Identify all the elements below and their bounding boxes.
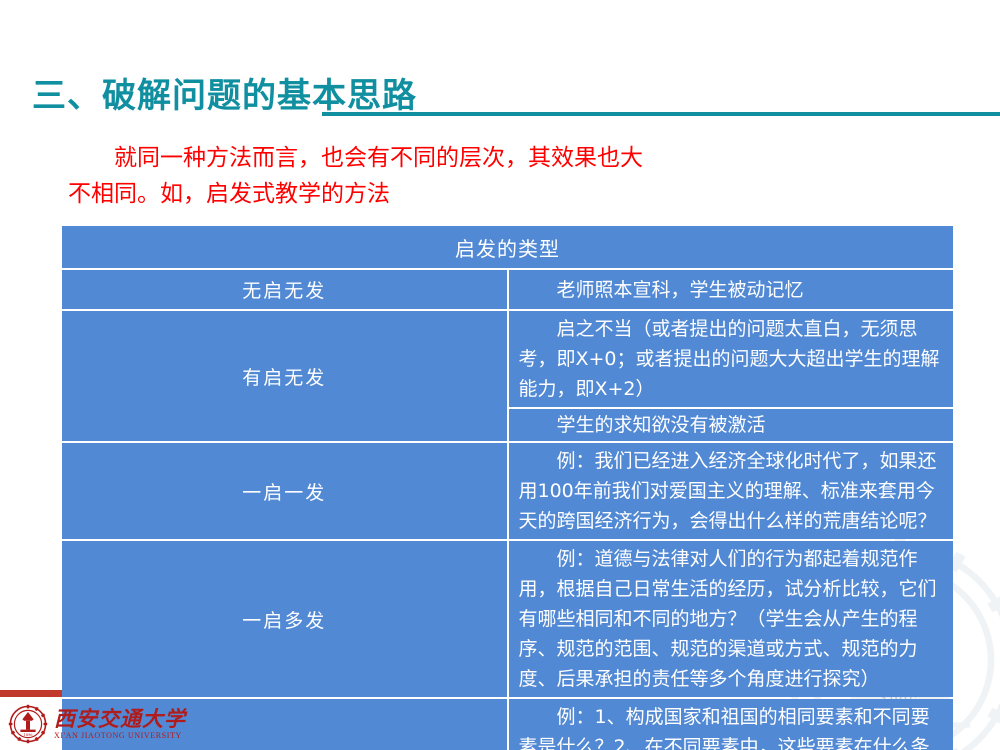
footer-accent-bar xyxy=(0,690,62,697)
row-category-2: 一启一发 xyxy=(62,443,507,539)
row-content-4-0: 例：1、构成国家和祖国的相同要素和不同要素是什么？2、在不同要素中，这些要素在什… xyxy=(509,699,954,750)
row-content-2-0-text: 例：我们已经进入经济全球化时代了，如果还用100年前我们对爱国主义的理解、标准来… xyxy=(519,450,937,532)
row-category-0: 无启无发 xyxy=(62,270,507,309)
row-content-1-0-text: 启之不当（或者提出的问题太直白，无须思考，即X+0；或者提出的问题大大超出学生的… xyxy=(519,318,940,400)
inspiration-types-table: 启发的类型 无启无发 老师照本宣科，学生被动记忆 有启无发 启之不当（或者提出的… xyxy=(60,224,955,750)
table-header-row: 启发的类型 xyxy=(62,226,953,268)
table-row: 逐启逐发 例：1、构成国家和祖国的相同要素和不同要素是什么？2、在不同要素中，这… xyxy=(62,699,953,750)
row-category-3: 一启多发 xyxy=(62,541,507,697)
table-row: 一启一发 例：我们已经进入经济全球化时代了，如果还用100年前我们对爱国主义的理… xyxy=(62,443,953,539)
table-header-cell: 启发的类型 xyxy=(62,226,953,268)
subtitle-line-1-text: 就同一种方法而言，也会有不同的层次，其效果也大 xyxy=(114,145,643,171)
row-content-1-0: 启之不当（或者提出的问题太直白，无须思考，即X+0；或者提出的问题大大超出学生的… xyxy=(509,311,954,407)
table-row: 无启无发 老师照本宣科，学生被动记忆 xyxy=(62,270,953,309)
slide-canvas: 1896 三、破解问题的基本思路 就同一种方法而言，也会有不同的层次，其效果也大… xyxy=(0,0,1000,750)
row-content-0-0: 老师照本宣科，学生被动记忆 xyxy=(509,270,954,309)
table-row: 一启多发 例：道德与法律对人们的行为都起着规范作用，根据自己日常生活的经历，试分… xyxy=(62,541,953,697)
row-content-2-0: 例：我们已经进入经济全球化时代了，如果还用100年前我们对爱国主义的理解、标准来… xyxy=(509,443,954,539)
university-logo: 1896 西安交通大学 XI'AN JIAOTONG UNIVERSITY xyxy=(8,703,188,745)
title-underline-rule xyxy=(322,112,1000,116)
table-row: 有启无发 启之不当（或者提出的问题太直白，无须思考，即X+0；或者提出的问题大大… xyxy=(62,311,953,407)
page-title: 三、破解问题的基本思路 xyxy=(32,76,417,116)
svg-text:1896: 1896 xyxy=(23,733,33,737)
row-content-3-0-text: 例：道德与法律对人们的行为都起着规范作用，根据自己日常生活的经历，试分析比较，它… xyxy=(519,548,937,690)
row-content-3-0: 例：道德与法律对人们的行为都起着规范作用，根据自己日常生活的经历，试分析比较，它… xyxy=(509,541,954,697)
row-content-0-0-text: 老师照本宣科，学生被动记忆 xyxy=(557,279,804,301)
page-title-row: 三、破解问题的基本思路 xyxy=(0,78,1000,118)
subtitle-paragraph: 就同一种方法而言，也会有不同的层次，其效果也大 不相同。如，启发式教学的方法 xyxy=(68,140,948,212)
row-content-1-1: 学生的求知欲没有被激活 xyxy=(509,409,954,441)
university-name-cn: 西安交通大学 xyxy=(54,707,186,730)
university-logo-words: 西安交通大学 XI'AN JIAOTONG UNIVERSITY xyxy=(54,707,186,741)
subtitle-line-1: 就同一种方法而言，也会有不同的层次，其效果也大 xyxy=(68,140,948,176)
row-content-4-0-text: 例：1、构成国家和祖国的相同要素和不同要素是什么？2、在不同要素中，这些要素在什… xyxy=(519,706,930,750)
university-seal-icon: 1896 xyxy=(8,704,48,744)
row-content-1-1-text: 学生的求知欲没有被激活 xyxy=(557,414,766,436)
subtitle-line-2: 不相同。如，启发式教学的方法 xyxy=(68,176,948,212)
university-name-en: XI'AN JIAOTONG UNIVERSITY xyxy=(54,730,186,741)
row-category-1: 有启无发 xyxy=(62,311,507,441)
